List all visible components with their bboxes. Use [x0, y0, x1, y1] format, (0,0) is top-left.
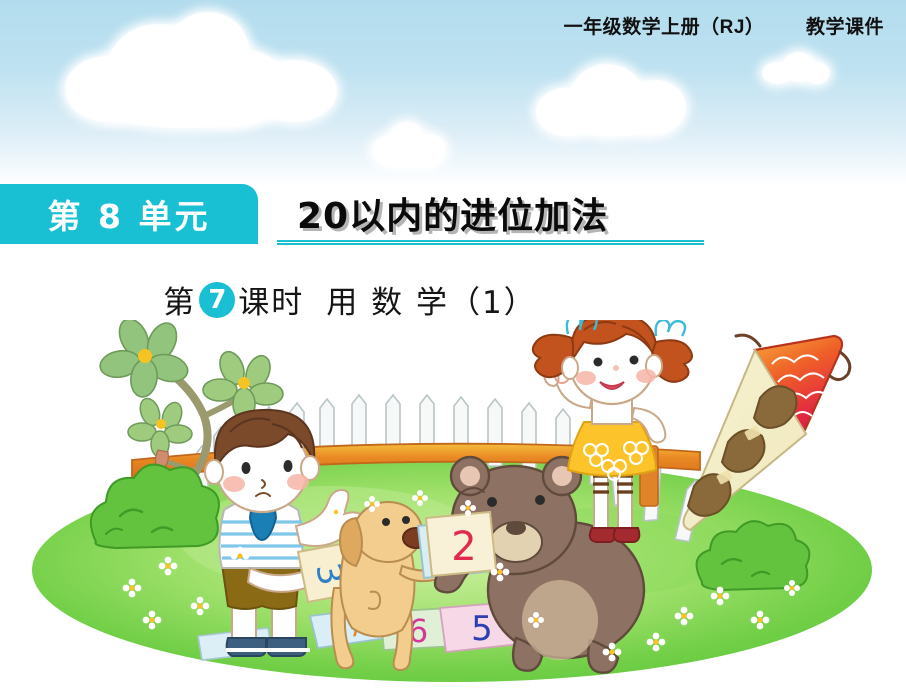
cloud-left [55, 8, 345, 123]
lesson-subtitle: 第 7 课时 用 数 学 （1） [0, 277, 700, 322]
unit-badge: 第 8 单元 [0, 184, 258, 244]
flower-large [98, 320, 191, 399]
card-2-number: 2 [451, 524, 476, 570]
scene-svg: 7 6 5 [0, 320, 906, 690]
title-underline [277, 240, 704, 245]
header-courseware-label: 教学课件 [806, 17, 884, 38]
cloud-right [536, 58, 696, 140]
slide-canvas: 一年级数学上册（RJ） 教学课件 第 8 单元 20以内的进位加法 第 7 课时… [0, 0, 906, 690]
lesson-middle-label: 课时 [238, 277, 304, 322]
scene-illustration: 7 6 5 [0, 320, 906, 690]
lesson-topic-label: 用 数 学 [326, 277, 449, 322]
header-course-line: 一年级数学上册（RJ） 教学课件 [564, 12, 884, 39]
page-title: 20以内的进位加法 [297, 187, 608, 239]
lesson-suffix-label: （1） [449, 277, 537, 322]
header-book-label: 一年级数学上册（RJ） [564, 17, 765, 38]
lesson-prefix-label: 第 [163, 277, 196, 322]
bush-left [91, 465, 219, 548]
unit-badge-label: 第 8 单元 [48, 190, 211, 238]
cloud-center [372, 118, 450, 170]
cloud-far-right [762, 52, 832, 86]
card-5-number: 5 [471, 609, 493, 649]
card-2: 2 [426, 512, 496, 576]
lesson-number-badge: 7 [199, 282, 235, 318]
